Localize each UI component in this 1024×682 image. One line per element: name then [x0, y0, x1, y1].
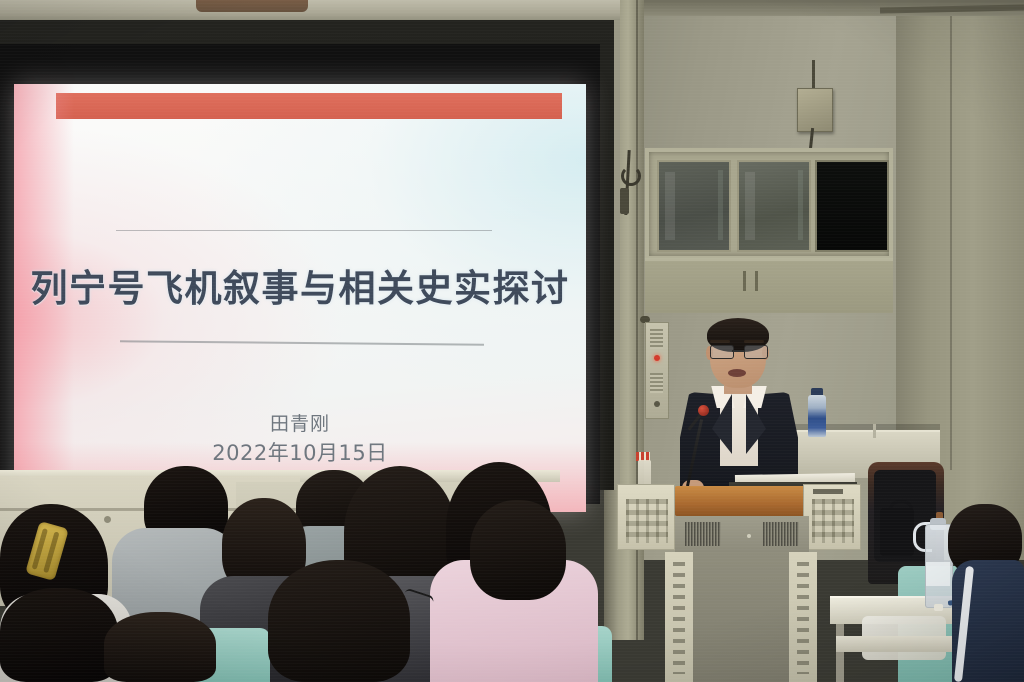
podium-speaker-grille-right — [763, 522, 799, 546]
podium-speaker-grille-left — [685, 522, 721, 546]
cable-plug — [620, 188, 629, 214]
podium-wood-top — [675, 486, 809, 516]
podium-vents-right — [812, 499, 854, 543]
whiteboard-brand-label — [548, 8, 612, 16]
wall-junction-box — [797, 88, 833, 132]
speaker-brow-left — [710, 340, 730, 343]
window-pane-right-open — [815, 160, 889, 252]
rear-faucet — [873, 424, 876, 438]
rear-water-bottle — [808, 395, 826, 437]
projection-screen: 列宁号飞机叙事与相关史实探讨 田青刚 2022年10月15日 — [14, 84, 586, 512]
cabinet-handle-right[interactable] — [755, 271, 758, 291]
console-knob[interactable] — [104, 516, 111, 523]
glasses-lens-right — [744, 345, 768, 359]
podium-screw — [747, 534, 751, 538]
window-pane-middle — [737, 160, 811, 252]
whiteboard-inner-frame: 列宁号飞机叙事与相关史实探讨 田青刚 2022年10月15日 — [0, 44, 600, 504]
power-led-icon — [654, 355, 660, 361]
whiteboard-bezel: 列宁号飞机叙事与相关史实探讨 田青刚 2022年10月15日 — [0, 20, 620, 490]
glasses-lens-left — [710, 345, 734, 359]
cable-hook-icon — [621, 166, 641, 186]
audience-head-8 — [0, 588, 118, 682]
bottle-label — [926, 562, 950, 586]
wall-control-panel[interactable] — [645, 322, 669, 419]
whiteboard-top-trim — [0, 0, 620, 22]
glasses-icon — [709, 345, 767, 358]
pillar-seam — [950, 0, 952, 470]
panel-vent-bottom — [650, 373, 663, 393]
speaker-mouth — [728, 369, 746, 377]
bag-on-chair — [880, 508, 914, 556]
audience-head-9 — [104, 612, 216, 682]
podium-wing-right — [803, 484, 861, 550]
microphone-head-icon — [698, 405, 709, 416]
audience-head-10 — [470, 500, 566, 600]
podium-wing-left — [617, 484, 675, 550]
glasses-bridge — [732, 350, 744, 352]
slide-title: 列宁号飞机叙事与相关史实探讨 — [14, 258, 586, 312]
podium-base-left — [665, 552, 693, 682]
ceiling-stain — [196, 0, 308, 12]
podium-label-plate — [813, 489, 843, 494]
slide-top-banner — [56, 93, 562, 119]
slide-author: 田青刚 — [14, 409, 586, 436]
slide-divider-top — [116, 230, 492, 231]
podium-base-center — [693, 552, 789, 682]
panel-button[interactable] — [654, 401, 660, 407]
wall-window — [645, 148, 893, 260]
wall-cabinet[interactable] — [645, 258, 893, 313]
slide-divider-bottom — [120, 340, 484, 345]
podium-vents-left — [626, 499, 668, 543]
window-pane-left — [657, 160, 731, 252]
lecture-hall-photo: 列宁号飞机叙事与相关史实探讨 田青刚 2022年10月15日 — [0, 0, 1024, 682]
speaker-brow-right — [744, 340, 764, 343]
junction-cable-upper — [812, 60, 815, 90]
podium-base-right — [789, 552, 817, 682]
panel-vent-top — [650, 329, 663, 349]
cabinet-handle-left[interactable] — [743, 271, 746, 291]
audience-head-6 — [268, 560, 410, 682]
white-pen-cap[interactable] — [934, 604, 943, 611]
podium — [617, 472, 861, 682]
podium-front-panel — [675, 516, 809, 552]
